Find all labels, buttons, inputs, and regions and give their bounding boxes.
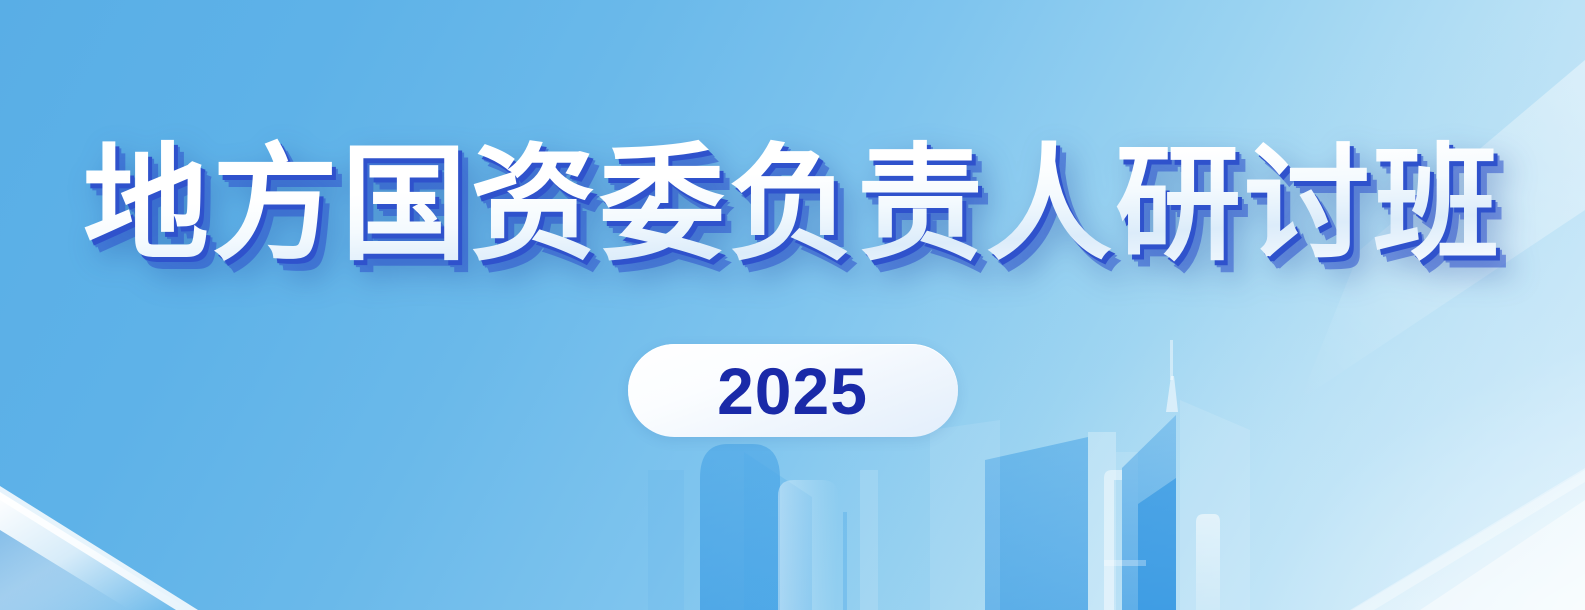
banner-title-text: 地方国资委负责人研讨班 bbox=[83, 138, 1502, 272]
corner-glow bbox=[0, 0, 1585, 610]
seminar-banner: 地方国资委负责人研讨班 2025 bbox=[0, 0, 1585, 610]
light-ribbon-bottom-right bbox=[1350, 468, 1585, 610]
light-ribbon-bottom-left bbox=[0, 486, 198, 610]
page-title: 地方国资委负责人研讨班 bbox=[0, 138, 1585, 272]
year-badge-container: 2025 bbox=[0, 344, 1585, 437]
year-badge-label: 2025 bbox=[717, 358, 868, 424]
city-skyline-silhouette bbox=[0, 0, 1585, 610]
year-badge: 2025 bbox=[628, 344, 958, 437]
